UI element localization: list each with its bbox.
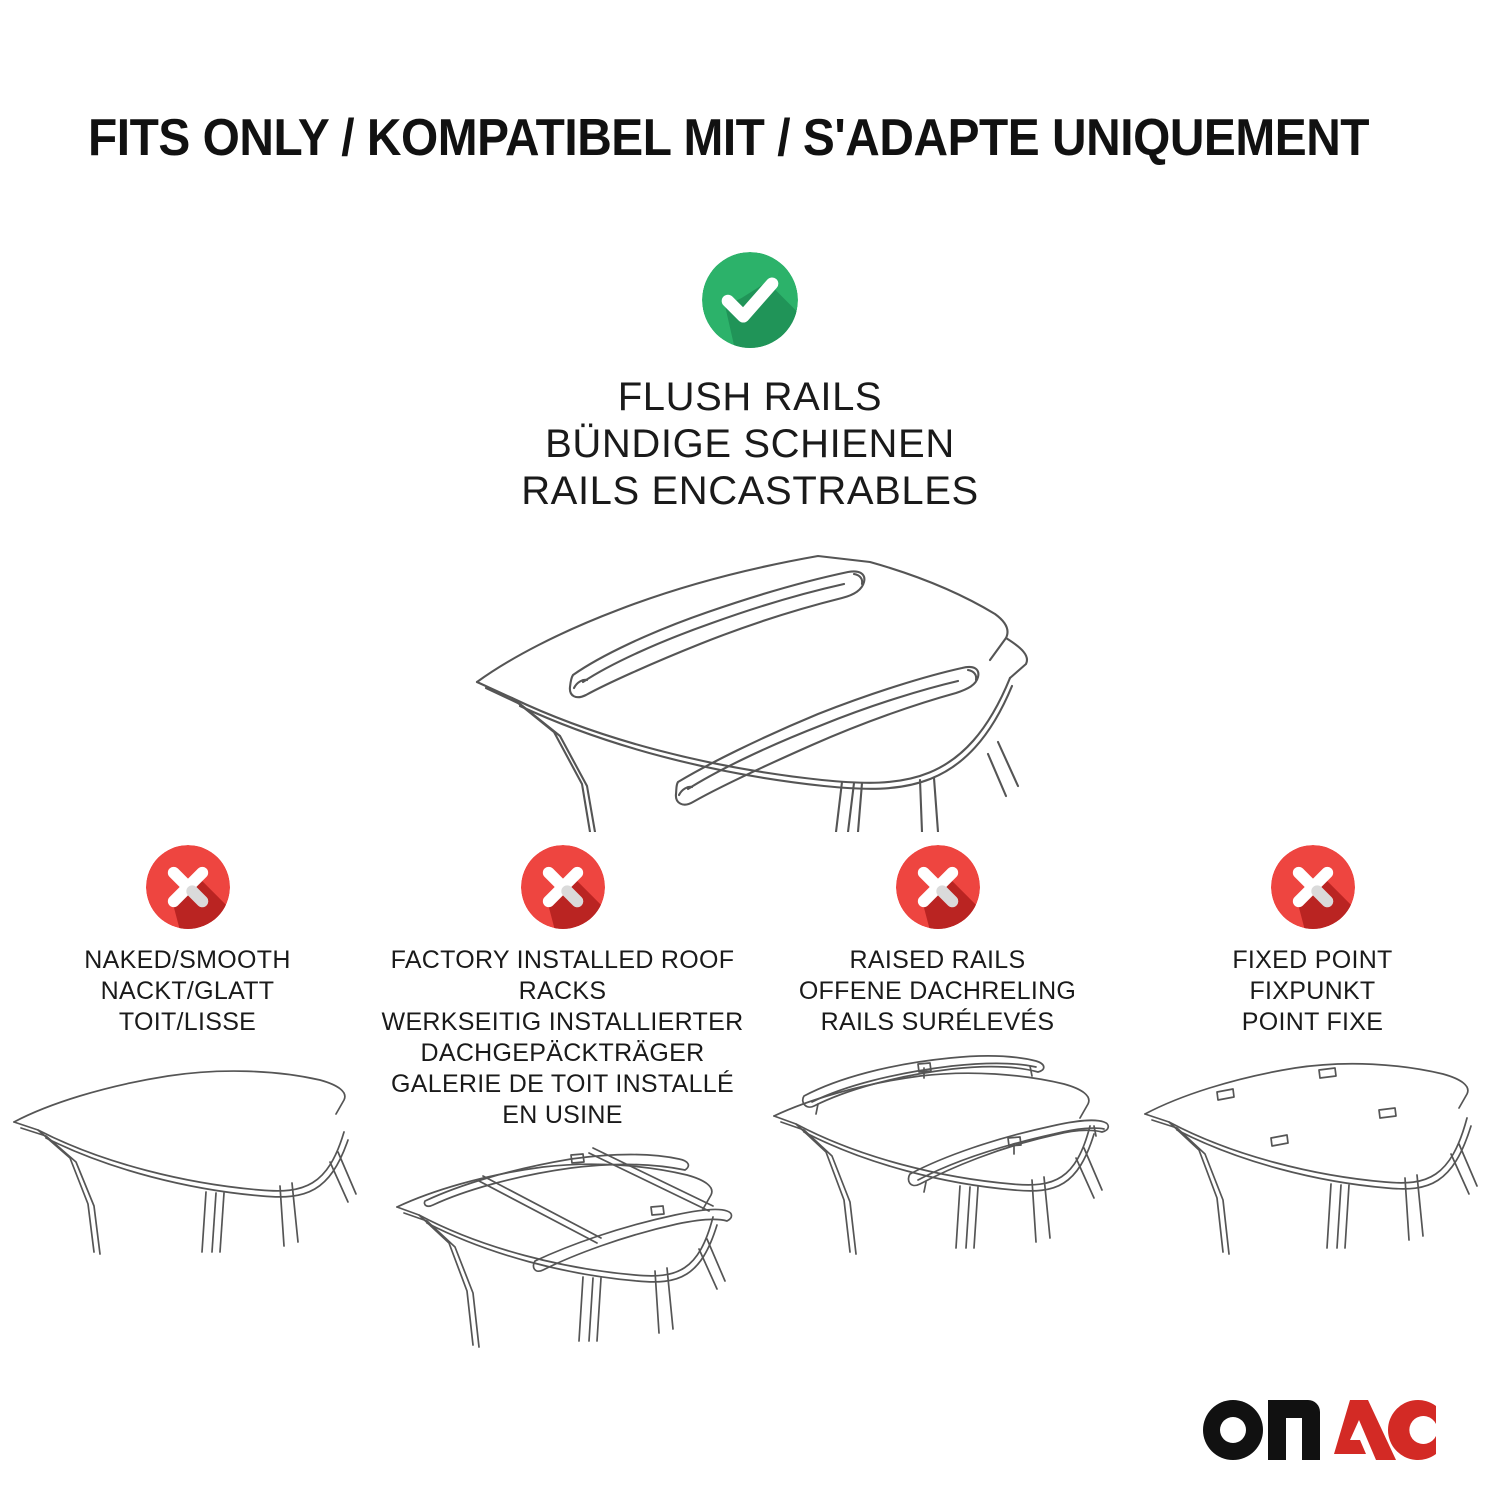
incompatible-caption: FIXED POINT FIXPUNKT POINT FIXE (1226, 945, 1398, 1038)
car-roof-flush-rails-illustration (450, 532, 1050, 832)
cross-circle-icon (896, 845, 980, 929)
compatible-heading-line: BÜNDIGE SCHIENEN (521, 421, 979, 468)
cross-circle-icon (521, 845, 605, 929)
incompatible-section: NAKED/SMOOTH NACKT/GLATT TOIT/LISSE (0, 845, 1500, 1360)
page-title: FITS ONLY / KOMPATIBEL MIT / S'ADAPTE UN… (88, 108, 1369, 168)
cross-circle-icon (1271, 845, 1355, 929)
caption-line: RAILS SURÉLEVÉS (799, 1007, 1076, 1038)
incompatible-item-raised-rails: RAISED RAILS OFFENE DACHRELING RAILS SUR… (750, 845, 1125, 1360)
caption-line: OFFENE DACHRELING (799, 976, 1076, 1007)
logo-letter-o (1203, 1400, 1263, 1460)
car-roof-factory-roof-racks-illustration (383, 1145, 743, 1360)
compatible-section: FLUSH RAILS BÜNDIGE SCHIENEN RAILS ENCAS… (0, 252, 1500, 832)
caption-line: WERKSEITIG INSTALLIERTER (381, 1007, 744, 1038)
caption-line: FIXPUNKT (1232, 976, 1392, 1007)
logo-letter-m (1268, 1400, 1320, 1460)
caption-line: RAISED RAILS (799, 945, 1076, 976)
compatible-heading: FLUSH RAILS BÜNDIGE SCHIENEN RAILS ENCAS… (521, 374, 979, 516)
caption-line: TOIT/LISSE (84, 1007, 290, 1038)
car-roof-fixed-point-illustration (1133, 1052, 1493, 1267)
car-roof-raised-rails-illustration (758, 1052, 1118, 1267)
car-roof-naked-smooth-illustration (8, 1052, 368, 1267)
logo-letter-a (1334, 1400, 1396, 1460)
logo-letter-c (1388, 1400, 1436, 1460)
caption-line: NAKED/SMOOTH (84, 945, 290, 976)
incompatible-item-fixed-point: FIXED POINT FIXPUNKT POINT FIXE (1125, 845, 1500, 1360)
caption-line: FIXED POINT (1232, 945, 1392, 976)
cross-circle-icon (146, 845, 230, 929)
incompatible-caption: RAISED RAILS OFFENE DACHRELING RAILS SUR… (793, 945, 1082, 1038)
caption-line: POINT FIXE (1232, 1007, 1392, 1038)
incompatible-item-factory-roof-racks: FACTORY INSTALLED ROOF RACKS WERKSEITIG … (375, 845, 750, 1360)
compatible-heading-line: RAILS ENCASTRABLES (521, 468, 979, 515)
incompatible-item-naked-smooth: NAKED/SMOOTH NACKT/GLATT TOIT/LISSE (0, 845, 375, 1360)
caption-line: NACKT/GLATT (84, 976, 290, 1007)
caption-line: GALERIE DE TOIT INSTALLÉ EN USINE (381, 1069, 744, 1131)
caption-line: FACTORY INSTALLED ROOF RACKS (381, 945, 744, 1007)
caption-line: DACHGEPÄCKTRÄGER (381, 1038, 744, 1069)
incompatible-caption: NAKED/SMOOTH NACKT/GLATT TOIT/LISSE (78, 945, 296, 1038)
check-circle-icon (702, 252, 798, 348)
incompatible-caption: FACTORY INSTALLED ROOF RACKS WERKSEITIG … (375, 945, 750, 1131)
omac-logo (1200, 1392, 1436, 1464)
compatible-heading-line: FLUSH RAILS (521, 374, 979, 421)
